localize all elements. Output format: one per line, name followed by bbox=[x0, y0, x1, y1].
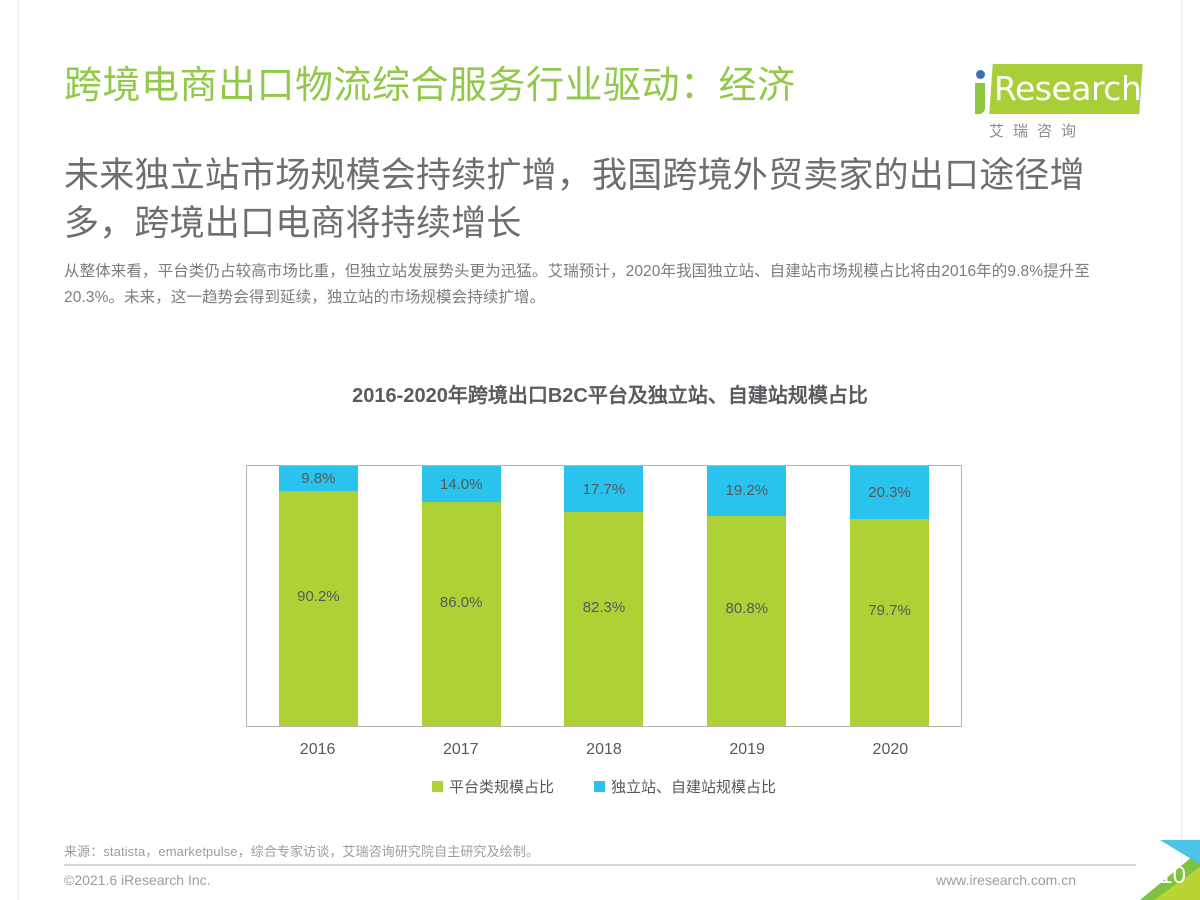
bar-value-label: 86.0% bbox=[440, 594, 483, 611]
bar-segment-platform: 90.2% bbox=[279, 491, 358, 726]
bar-group: 9.8%90.2%14.0%86.0%17.7%82.3%19.2%80.8%2… bbox=[247, 466, 961, 726]
chart-title: 2016-2020年跨境出口B2C平台及独立站、自建站规模占比 bbox=[270, 380, 950, 413]
logo-mark: Research bbox=[967, 62, 1142, 118]
x-axis-tick-label: 2017 bbox=[421, 741, 500, 759]
logo-wordmark: Research bbox=[994, 67, 1140, 111]
footer-divider bbox=[64, 864, 1136, 866]
bar-segment-independent-site: 9.8% bbox=[279, 466, 358, 491]
page-title: 跨境电商出口物流综合服务行业驱动：经济 bbox=[64, 60, 964, 112]
bar-value-label: 17.7% bbox=[583, 481, 626, 498]
logo-i-dot-icon bbox=[976, 70, 985, 79]
bar-value-label: 14.0% bbox=[440, 476, 483, 493]
slide-right-edge bbox=[1181, 0, 1182, 900]
bar-segment-platform: 79.7% bbox=[850, 519, 929, 726]
x-axis-tick-label: 2020 bbox=[851, 741, 930, 759]
logo-i-stem-icon bbox=[975, 83, 985, 114]
bar-value-label: 20.3% bbox=[868, 484, 911, 501]
bar-value-label: 19.2% bbox=[726, 482, 769, 499]
x-axis-labels: 20162017201820192020 bbox=[246, 738, 962, 762]
bar-value-label: 9.8% bbox=[301, 470, 335, 487]
legend-label: 平台类规模占比 bbox=[449, 776, 554, 797]
body-paragraph: 从整体来看，平台类仍占较高市场比重，但独立站发展势头更为迅猛。艾瑞预计，2020… bbox=[64, 259, 1149, 311]
bar-segment-platform: 82.3% bbox=[564, 512, 643, 726]
bar-segment-independent-site: 19.2% bbox=[707, 466, 786, 516]
bar-column: 20.3%79.7% bbox=[850, 466, 929, 726]
source-note: 来源：statista，emarketpulse，综合专家访谈，艾瑞咨询研究院自… bbox=[64, 841, 539, 860]
bar-value-label: 79.7% bbox=[868, 602, 911, 619]
x-axis-tick-label: 2018 bbox=[564, 741, 643, 759]
bar-column: 9.8%90.2% bbox=[279, 466, 358, 726]
bar-segment-independent-site: 17.7% bbox=[564, 466, 643, 512]
copyright-text: ©2021.6 iResearch Inc. bbox=[64, 872, 211, 888]
bar-value-label: 80.8% bbox=[726, 600, 769, 617]
bar-segment-platform: 80.8% bbox=[707, 516, 786, 726]
website-link[interactable]: www.iresearch.com.cn bbox=[936, 872, 1076, 888]
legend-swatch-icon bbox=[432, 781, 443, 792]
bar-segment-independent-site: 14.0% bbox=[422, 466, 501, 502]
legend-label: 独立站、自建站规模占比 bbox=[611, 776, 776, 797]
legend-item[interactable]: 平台类规模占比 bbox=[432, 776, 554, 797]
iresearch-logo: Research 艾瑞咨询 bbox=[967, 62, 1142, 148]
bar-value-label: 90.2% bbox=[297, 588, 340, 605]
slide-canvas: 跨境电商出口物流综合服务行业驱动：经济 未来独立站市场规模会持续扩增，我国跨境外… bbox=[0, 0, 1200, 900]
bar-column: 17.7%82.3% bbox=[564, 466, 643, 726]
page-number: 10 bbox=[1159, 862, 1186, 890]
bar-segment-independent-site: 20.3% bbox=[850, 466, 929, 519]
bar-column: 19.2%80.8% bbox=[707, 466, 786, 726]
legend-swatch-icon bbox=[594, 781, 605, 792]
logo-chinese-name: 艾瑞咨询 bbox=[989, 120, 1139, 141]
chart-legend: 平台类规模占比独立站、自建站规模占比 bbox=[246, 776, 962, 797]
bar-value-label: 82.3% bbox=[583, 599, 626, 616]
corner-decoration bbox=[1116, 840, 1200, 900]
x-axis-tick-label: 2016 bbox=[278, 741, 357, 759]
x-axis-tick-label: 2019 bbox=[708, 741, 787, 759]
chart-plot-area: 9.8%90.2%14.0%86.0%17.7%82.3%19.2%80.8%2… bbox=[246, 465, 962, 727]
bar-column: 14.0%86.0% bbox=[422, 466, 501, 726]
slide-left-edge bbox=[18, 0, 19, 900]
legend-item[interactable]: 独立站、自建站规模占比 bbox=[594, 776, 776, 797]
page-subtitle: 未来独立站市场规模会持续扩增，我国跨境外贸卖家的出口途径增多，跨境出口电商将持续… bbox=[64, 152, 1134, 248]
bar-segment-platform: 86.0% bbox=[422, 502, 501, 726]
